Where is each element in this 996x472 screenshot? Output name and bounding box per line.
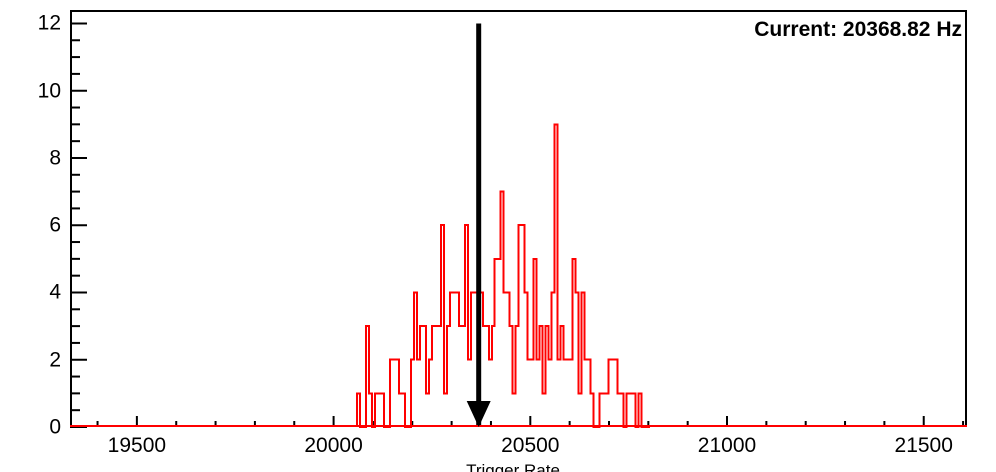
y-axis-tick-label: 8 — [49, 147, 61, 168]
x-axis-tick-label: 19500 — [108, 435, 166, 456]
y-axis-tick-label: 2 — [49, 349, 61, 370]
x-axis-tick-label: 20500 — [501, 435, 559, 456]
current-rate-arrow — [0, 0, 996, 472]
y-axis-tick-label: 10 — [38, 80, 61, 101]
arrow-head — [467, 401, 491, 427]
x-axis-tick-label: 20000 — [304, 435, 362, 456]
y-axis-tick-label: 6 — [49, 215, 61, 236]
y-axis-tick-label: 4 — [49, 282, 61, 303]
current-rate-readout: Current: 20368.82 Hz — [754, 18, 962, 42]
x-axis-title: Trigger Rate — [466, 461, 560, 472]
histogram-canvas: 0246810121950020000205002100021500 Trigg… — [0, 0, 996, 472]
x-axis-tick-label: 21500 — [895, 435, 953, 456]
y-axis-tick-label: 0 — [49, 417, 61, 438]
x-axis-tick-label: 21000 — [698, 435, 756, 456]
y-axis-tick-label: 12 — [38, 13, 61, 34]
